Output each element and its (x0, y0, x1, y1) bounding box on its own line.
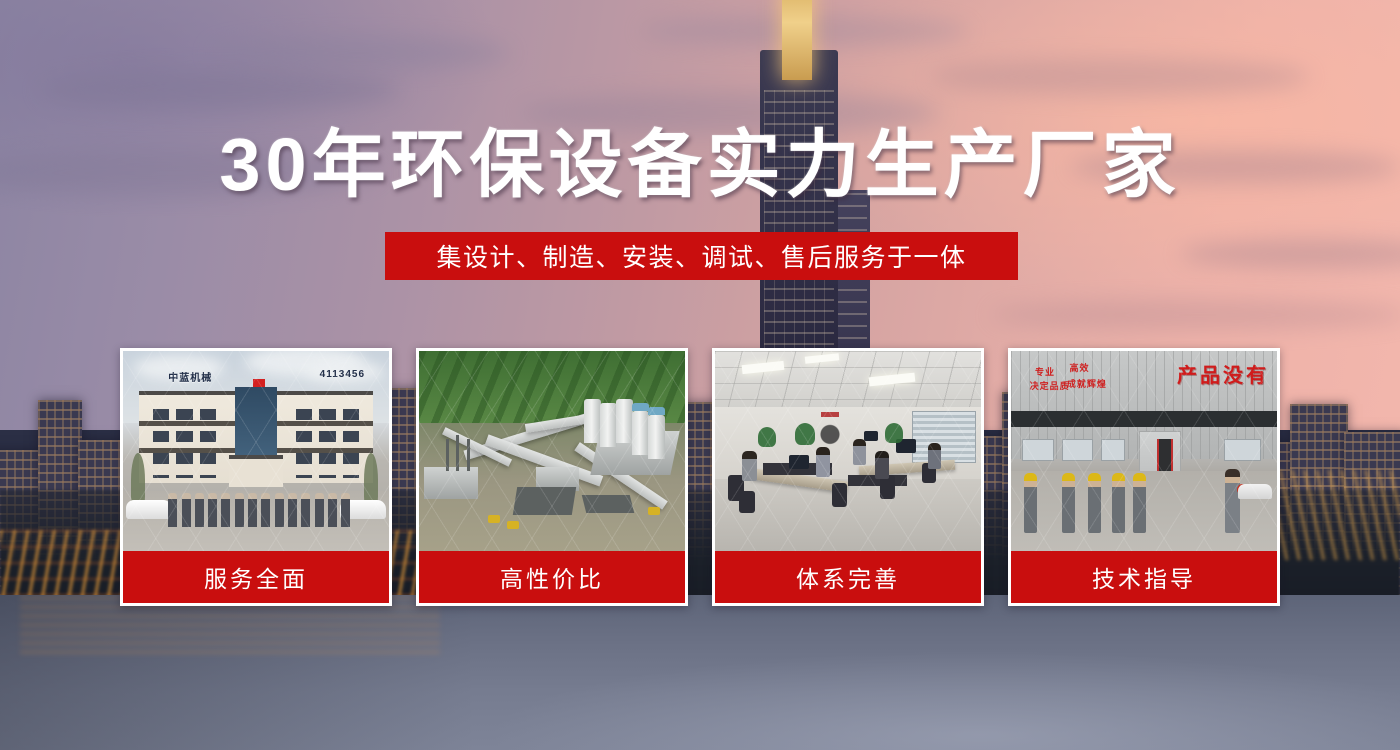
card-caption-label: 高性价比 (419, 551, 685, 603)
card-caption-label: 服务全面 (123, 551, 389, 603)
building-phone-number: 4113456 (320, 369, 365, 380)
building-signage: 中蓝机械 (168, 369, 212, 384)
tower-crown-light (782, 0, 812, 80)
card-photo-office-interior (715, 351, 981, 551)
card-photo-plant-aerial (419, 351, 685, 551)
instructor-figure (1225, 469, 1240, 533)
window-blinds (912, 411, 976, 463)
flag-icon (253, 379, 265, 387)
feature-card-value[interactable]: 高性价比 (416, 348, 688, 606)
factory-slogan-a: 专业 (1035, 365, 1055, 378)
wall-decal (813, 417, 847, 447)
factory-slogan-b: 高效 (1070, 361, 1090, 374)
feature-card-guidance[interactable]: 产品没有 专业 高效 决定品质 成就辉煌 (1008, 348, 1280, 606)
card-caption-label: 技术指导 (1011, 551, 1277, 603)
factory-slogan-c: 决定品质 (1030, 379, 1070, 392)
card-photo-worker-training: 产品没有 专业 高效 决定品质 成就辉煌 (1011, 351, 1277, 551)
promo-banner: 30年环保设备实力生产厂家 集设计、制造、安装、调试、售后服务于一体 (0, 0, 1400, 750)
factory-slogan-d: 成就辉煌 (1067, 377, 1107, 390)
factory-slogan-main: 产品没有 (1177, 359, 1269, 388)
card-photo-company-building: 中蓝机械 4113456 (123, 351, 389, 551)
page-title: 30年环保设备实力生产厂家 (0, 128, 1400, 202)
card-caption-label: 体系完善 (715, 551, 981, 603)
subtitle-text: 集设计、制造、安装、调试、售后服务于一体 (436, 238, 966, 274)
feature-card-system[interactable]: 体系完善 (712, 348, 984, 606)
feature-card-row: 中蓝机械 4113456 (120, 348, 1280, 606)
subtitle-banner: 集设计、制造、安装、调试、售后服务于一体 (385, 232, 1018, 280)
feature-card-service[interactable]: 中蓝机械 4113456 (120, 348, 392, 606)
